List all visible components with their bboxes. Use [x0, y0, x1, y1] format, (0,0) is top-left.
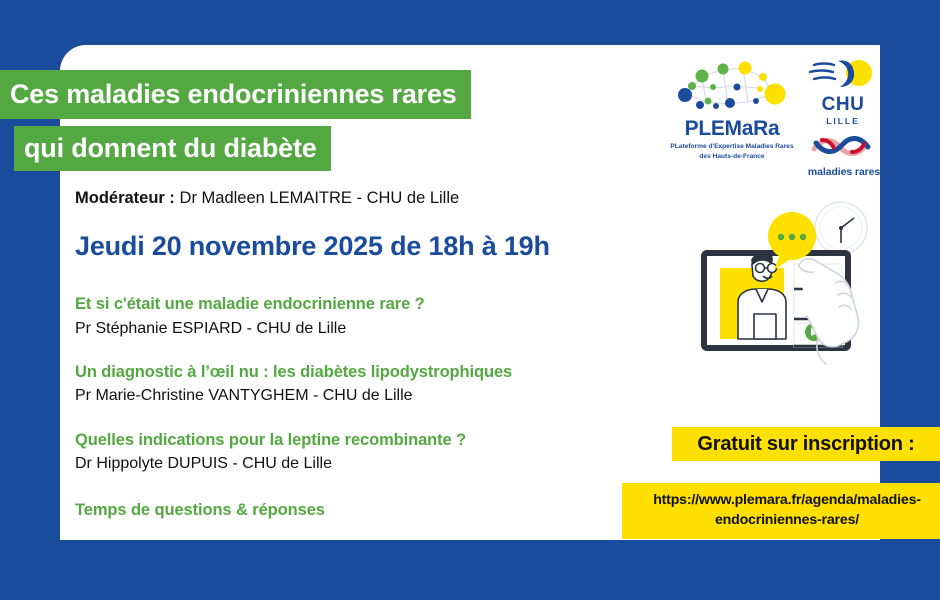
webinar-illustration: [668, 196, 882, 366]
plemara-tagline: PLateforme d'Expertise Maladies Rares de…: [668, 142, 796, 162]
plemara-wordmark: PLEMaRa: [668, 117, 796, 141]
title-line1-text: Ces maladies endocriniennes rares: [10, 79, 457, 110]
maladies-rares-label: maladies rares: [806, 166, 882, 178]
talk-speaker: Dr Hippolyte DUPUIS - CHU de Lille: [75, 453, 655, 475]
lille-label: LILLE: [808, 116, 878, 126]
event-details: Modérateur : Dr Madleen LEMAITRE - CHU d…: [75, 188, 655, 522]
registration-url[interactable]: https://www.plemara.fr/agenda/maladies- …: [622, 483, 940, 539]
registration-heading: Gratuit sur inscription :: [672, 427, 940, 461]
maladies-rares-helix-icon: [806, 134, 882, 160]
event-datetime: Jeudi 20 novembre 2025 de 18h à 19h: [75, 231, 655, 262]
registration-url-line2: endocriniennes-rares/: [628, 510, 940, 530]
talk-title: Et si c'était une maladie endocrinienne …: [75, 293, 655, 315]
talk-speaker: Pr Stéphanie ESPIARD - CHU de Lille: [75, 318, 655, 340]
plemara-tagline-line2: des Hauts-de-France: [668, 152, 796, 162]
talk-item: Et si c'était une maladie endocrinienne …: [75, 293, 655, 340]
clock-icon: [815, 202, 867, 254]
webinar-illustration-svg: [668, 196, 882, 366]
talk-item: Un diagnostic à l’œil nu : les diabètes …: [75, 361, 655, 408]
logo-group: PLEMaRa PLateforme d'Expertise Maladies …: [668, 58, 876, 180]
maladies-rares-logo: maladies rares: [806, 134, 882, 178]
chu-label: CHU: [808, 94, 878, 116]
registration-url-line1: https://www.plemara.fr/agenda/maladies-: [628, 490, 940, 510]
talk-item: Quelles indications pour la leptine reco…: [75, 429, 655, 476]
moderator-label: Modérateur :: [75, 189, 175, 207]
talk-title: Quelles indications pour la leptine reco…: [75, 429, 655, 451]
title-banner-line2: qui donnent du diabète: [14, 126, 331, 171]
plemara-dots-icon: [668, 58, 796, 118]
chu-lille-logo: CHU LILLE: [808, 58, 878, 126]
poster-canvas: Ces maladies endocriniennes rares qui do…: [0, 0, 940, 600]
title-line2-text: qui donnent du diabète: [24, 133, 317, 164]
talks-list: Et si c'était une maladie endocrinienne …: [75, 293, 655, 521]
talk-title: Temps de questions & réponses: [75, 499, 655, 521]
title-banner-line1: Ces maladies endocriniennes rares: [0, 70, 471, 119]
talk-speaker: Pr Marie-Christine VANTYGHEM - CHU de Li…: [75, 385, 655, 407]
plemara-logo: PLEMaRa PLateforme d'Expertise Maladies …: [668, 58, 796, 162]
plemara-tagline-line1: PLateforme d'Expertise Maladies Rares: [668, 142, 796, 152]
chu-lille-mark-icon: [808, 58, 878, 92]
moderator-line: Modérateur : Dr Madleen LEMAITRE - CHU d…: [75, 188, 655, 209]
moderator-name: Dr Madleen LEMAITRE - CHU de Lille: [175, 189, 459, 207]
talk-title: Un diagnostic à l’œil nu : les diabètes …: [75, 361, 655, 383]
talk-item: Temps de questions & réponses: [75, 499, 655, 521]
